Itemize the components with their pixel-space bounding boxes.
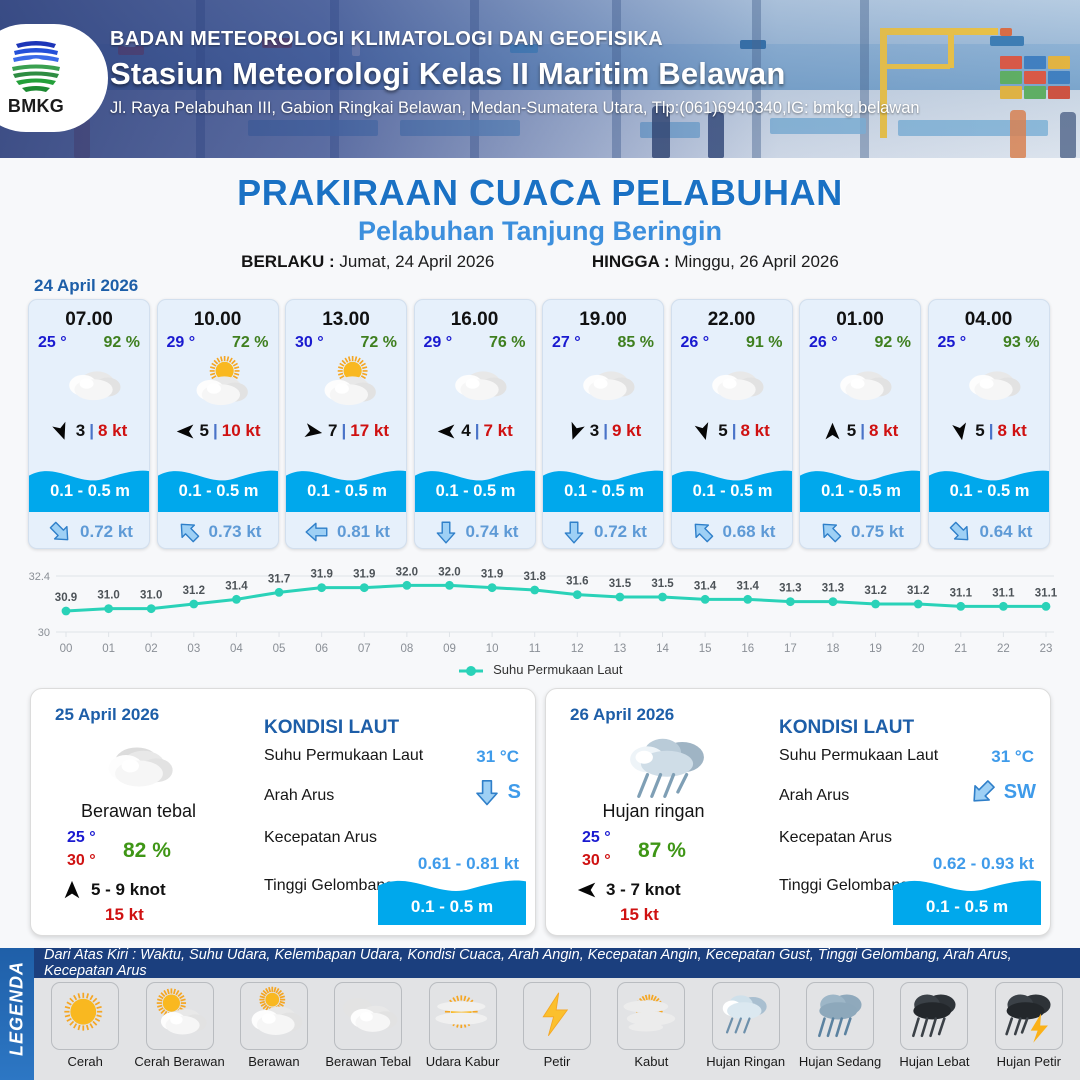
panel-right: KONDISI LAUT Suhu Permukaan Laut 31 °C A… xyxy=(246,689,537,937)
legend-item: Cerah xyxy=(38,982,132,1078)
panel-temp-max: 30 ° xyxy=(67,852,96,870)
card-gust-speed: 7 kt xyxy=(483,421,512,441)
legend-item-label: Hujan Petir xyxy=(997,1054,1061,1069)
card-temperature: 25 ° xyxy=(38,334,67,352)
daily-forecast-panel: 26 April 2026 Hujan ringan 25 ° 30 ° 87 … xyxy=(545,688,1051,936)
panel-current-dir-value-row: SW xyxy=(968,777,1036,807)
svg-text:02: 02 xyxy=(145,643,158,655)
wind-direction-arrow-icon xyxy=(822,421,843,442)
panel-current-speed-label: Kecepatan Arus xyxy=(779,829,892,847)
svg-text:03: 03 xyxy=(187,643,200,655)
svg-text:30: 30 xyxy=(38,627,50,639)
card-current-speed: 0.81 kt xyxy=(337,522,390,542)
card-weather-icon xyxy=(286,357,406,413)
panel-gust: 15 kt xyxy=(620,905,659,925)
svg-text:31.3: 31.3 xyxy=(779,583,801,595)
logo-label: BMKG xyxy=(0,96,78,117)
card-wave-height: 0.1 - 0.5 m xyxy=(158,482,279,501)
valid-until-label: HINGGA : xyxy=(592,252,670,271)
legend-icon-sun-cloud-icon xyxy=(146,982,214,1050)
card-wave-graphic: 0.1 - 0.5 m xyxy=(158,460,279,512)
svg-text:31.9: 31.9 xyxy=(353,569,375,581)
legend-item: Hujan Ringan xyxy=(699,982,793,1078)
panel-wave-label: Tinggi Gelombang xyxy=(779,877,909,895)
card-time: 16.00 xyxy=(415,309,535,331)
svg-text:15: 15 xyxy=(699,643,712,655)
card-temperature: 29 ° xyxy=(167,334,196,352)
card-wind-separator: | xyxy=(860,421,865,441)
card-wind-separator: | xyxy=(213,421,218,441)
valid-from-label: BERLAKU : xyxy=(241,252,335,271)
svg-text:31.6: 31.6 xyxy=(566,576,588,588)
svg-text:31.2: 31.2 xyxy=(864,585,886,597)
legend-icon-haze-icon xyxy=(429,982,497,1050)
legend-item-label: Hujan Lebat xyxy=(899,1054,969,1069)
legend-item-label: Hujan Sedang xyxy=(799,1054,881,1069)
legend-item: Berawan Tebal xyxy=(321,982,415,1078)
card-wind-separator: | xyxy=(732,421,737,441)
current-direction-arrow-icon xyxy=(47,519,73,545)
panel-wind-speed: 5 - 9 knot xyxy=(91,880,166,900)
card-temperature: 25 ° xyxy=(938,334,967,352)
svg-text:32.0: 32.0 xyxy=(438,566,460,578)
chart-legend-label: Suhu Permukaan Laut xyxy=(493,662,622,677)
svg-text:31.3: 31.3 xyxy=(822,583,844,595)
legend-icon-fog-icon xyxy=(617,982,685,1050)
card-weather-icon xyxy=(29,357,149,413)
card-wave-height: 0.1 - 0.5 m xyxy=(543,482,664,501)
panel-sst-label: Suhu Permukaan Laut xyxy=(779,747,938,765)
card-wave-height: 0.1 - 0.5 m xyxy=(929,482,1050,501)
svg-text:10: 10 xyxy=(486,643,499,655)
card-current-speed: 0.64 kt xyxy=(980,522,1033,542)
svg-text:01: 01 xyxy=(102,643,115,655)
svg-text:07: 07 xyxy=(358,643,371,655)
panel-weather-icon xyxy=(71,729,206,801)
card-time: 04.00 xyxy=(929,309,1049,331)
card-weather-icon xyxy=(672,357,792,413)
current-direction-arrow-icon xyxy=(947,519,973,545)
svg-text:31.1: 31.1 xyxy=(992,587,1015,599)
legend-item-label: Cerah Berawan xyxy=(134,1054,224,1069)
svg-text:31.4: 31.4 xyxy=(694,580,717,592)
wind-direction-arrow-icon xyxy=(436,421,457,442)
panel-sst-label: Suhu Permukaan Laut xyxy=(264,747,423,765)
panel-current-dir-label: Arah Arus xyxy=(779,787,849,805)
svg-text:31.0: 31.0 xyxy=(97,590,119,602)
card-wave-graphic: 0.1 - 0.5 m xyxy=(929,460,1050,512)
svg-text:31.2: 31.2 xyxy=(183,585,205,597)
card-wind-row: 5 | 8 kt xyxy=(800,416,920,446)
card-temperature: 27 ° xyxy=(552,334,581,352)
page-subtitle: Pelabuhan Tanjung Beringin xyxy=(0,216,1080,247)
svg-text:21: 21 xyxy=(954,643,967,655)
svg-text:14: 14 xyxy=(656,643,669,655)
svg-text:11: 11 xyxy=(529,643,541,655)
panel-current-arrow-icon xyxy=(968,777,998,807)
panel-current-dir-value-row: S xyxy=(472,777,521,807)
svg-text:13: 13 xyxy=(614,643,627,655)
panel-temp-min: 25 ° xyxy=(582,829,611,847)
svg-text:06: 06 xyxy=(315,643,328,655)
svg-text:04: 04 xyxy=(230,643,243,655)
card-current-speed: 0.72 kt xyxy=(594,522,647,542)
card-wind-direction: 5 xyxy=(200,421,209,441)
panel-temp-max: 30 ° xyxy=(582,852,611,870)
card-time: 01.00 xyxy=(800,309,920,331)
legend-item: Kabut xyxy=(604,982,698,1078)
svg-text:09: 09 xyxy=(443,643,456,655)
card-current-row: 0.68 kt xyxy=(672,516,793,548)
svg-text:22: 22 xyxy=(997,643,1010,655)
svg-text:30.9: 30.9 xyxy=(55,592,77,604)
panel-wind-arrow-icon xyxy=(576,879,598,901)
panel-wave-label: Tinggi Gelombang xyxy=(264,877,394,895)
card-current-row: 0.75 kt xyxy=(800,516,921,548)
legend-item-label: Petir xyxy=(544,1054,571,1069)
svg-text:00: 00 xyxy=(60,643,73,655)
svg-text:12: 12 xyxy=(571,643,584,655)
card-current-row: 0.73 kt xyxy=(158,516,279,548)
panel-wind-row: 5 - 9 knot xyxy=(61,879,166,901)
forecast-card: 22.00 26 ° 91 % 5 | 8 kt 0.1 - 0.5 m 0.6… xyxy=(671,299,793,549)
panel-condition: Berawan tebal xyxy=(31,801,246,822)
panel-current-speed-label: Kecepatan Arus xyxy=(264,829,377,847)
bmkg-logo-icon xyxy=(4,34,68,96)
svg-text:31.9: 31.9 xyxy=(481,569,503,581)
panel-left: 25 April 2026 Berawan tebal 25 ° 30 ° 82… xyxy=(31,689,246,937)
forecast-card: 16.00 29 ° 76 % 4 | 7 kt 0.1 - 0.5 m 0.7… xyxy=(414,299,536,549)
card-gust-speed: 8 kt xyxy=(98,421,127,441)
current-direction-arrow-icon xyxy=(433,519,459,545)
current-direction-arrow-icon xyxy=(690,519,716,545)
svg-text:31.2: 31.2 xyxy=(907,585,929,597)
card-weather-icon xyxy=(158,357,278,413)
forecast-card: 13.00 30 ° 72 % 7 | 17 kt 0.1 - 0.5 m 0.… xyxy=(285,299,407,549)
card-wind-direction: 5 xyxy=(847,421,856,441)
legend-item: Cerah Berawan xyxy=(132,982,226,1078)
panel-condition: Hujan ringan xyxy=(546,801,761,822)
card-weather-icon xyxy=(543,357,663,413)
card-current-speed: 0.74 kt xyxy=(466,522,519,542)
svg-text:32.0: 32.0 xyxy=(396,566,418,578)
legend-icon-cloud-thick-icon xyxy=(334,982,402,1050)
svg-text:31.4: 31.4 xyxy=(225,580,248,592)
panel-humidity: 82 % xyxy=(123,839,171,863)
legend-icon-cloud-sun-small-icon xyxy=(240,982,308,1050)
svg-text:31.8: 31.8 xyxy=(524,571,547,583)
forecast-day-label: 24 April 2026 xyxy=(34,276,138,296)
legend-item: Hujan Petir xyxy=(982,982,1076,1078)
card-wind-row: 4 | 7 kt xyxy=(415,416,535,446)
card-weather-icon xyxy=(415,357,535,413)
panel-weather-icon xyxy=(586,729,721,801)
svg-text:31.4: 31.4 xyxy=(737,580,760,592)
chart-legend: Suhu Permukaan Laut xyxy=(0,662,1080,677)
svg-text:31.0: 31.0 xyxy=(140,590,162,602)
forecast-card: 04.00 25 ° 93 % 5 | 8 kt 0.1 - 0.5 m 0.6… xyxy=(928,299,1050,549)
card-wind-direction: 3 xyxy=(76,421,85,441)
card-humidity: 92 % xyxy=(104,334,140,352)
forecast-card: 01.00 26 ° 92 % 5 | 8 kt 0.1 - 0.5 m 0.7… xyxy=(799,299,921,549)
card-current-row: 0.72 kt xyxy=(543,516,664,548)
card-current-speed: 0.72 kt xyxy=(80,522,133,542)
panel-date: 25 April 2026 xyxy=(55,705,159,725)
card-wind-direction: 4 xyxy=(461,421,470,441)
card-wind-separator: | xyxy=(341,421,346,441)
legend-icon-rain-heavy-icon xyxy=(900,982,968,1050)
legend-item-label: Berawan xyxy=(248,1054,299,1069)
card-wind-direction: 5 xyxy=(718,421,727,441)
card-wind-row: 7 | 17 kt xyxy=(286,416,406,446)
legend-item-label: Cerah xyxy=(67,1054,102,1069)
legend-icon-rain-thunder-icon xyxy=(995,982,1063,1050)
card-gust-speed: 8 kt xyxy=(997,421,1026,441)
panel-date: 26 April 2026 xyxy=(570,705,674,725)
legend-side-title: LEGENDA xyxy=(0,948,34,1080)
card-wave-graphic: 0.1 - 0.5 m xyxy=(29,460,150,512)
card-wave-graphic: 0.1 - 0.5 m xyxy=(672,460,793,512)
svg-text:17: 17 xyxy=(784,643,797,655)
legend-icon-lightning-icon xyxy=(523,982,591,1050)
current-direction-arrow-icon xyxy=(176,519,202,545)
card-humidity: 93 % xyxy=(1003,334,1039,352)
wind-direction-arrow-icon xyxy=(303,421,324,442)
card-humidity: 76 % xyxy=(489,334,525,352)
card-wind-separator: | xyxy=(89,421,94,441)
panel-current-dir-value: SW xyxy=(1004,781,1036,804)
card-current-speed: 0.73 kt xyxy=(209,522,262,542)
current-direction-arrow-icon xyxy=(561,519,587,545)
valid-from-value: Jumat, 24 April 2026 xyxy=(339,252,494,271)
station-address: Jl. Raya Pelabuhan III, Gabion Ringkai B… xyxy=(110,99,1050,118)
card-wind-separator: | xyxy=(603,421,608,441)
panel-humidity: 87 % xyxy=(638,839,686,863)
current-direction-arrow-icon xyxy=(818,519,844,545)
legend-icon-rain-medium-icon xyxy=(806,982,874,1050)
panel-sea-title: KONDISI LAUT xyxy=(779,717,914,739)
card-wind-separator: | xyxy=(475,421,480,441)
card-wind-row: 3 | 8 kt xyxy=(29,416,149,446)
legend-icon-rain-light-icon xyxy=(712,982,780,1050)
panel-gust: 15 kt xyxy=(105,905,144,925)
card-wave-height: 0.1 - 0.5 m xyxy=(672,482,793,501)
forecast-card: 07.00 25 ° 92 % 3 | 8 kt 0.1 - 0.5 m 0.7… xyxy=(28,299,150,549)
panel-sea-title: KONDISI LAUT xyxy=(264,717,399,739)
card-wind-direction: 3 xyxy=(590,421,599,441)
panel-wind-row: 3 - 7 knot xyxy=(576,879,681,901)
card-humidity: 91 % xyxy=(746,334,782,352)
card-wave-graphic: 0.1 - 0.5 m xyxy=(543,460,664,512)
card-time: 10.00 xyxy=(158,309,278,331)
svg-text:31.7: 31.7 xyxy=(268,573,290,585)
svg-text:18: 18 xyxy=(827,643,840,655)
card-temperature: 26 ° xyxy=(809,334,838,352)
card-gust-speed: 9 kt xyxy=(612,421,641,441)
legend-item-label: Kabut xyxy=(634,1054,668,1069)
svg-text:23: 23 xyxy=(1040,643,1053,655)
panel-current-arrow-icon xyxy=(472,777,502,807)
legend-item-label: Hujan Ringan xyxy=(706,1054,785,1069)
card-current-row: 0.64 kt xyxy=(929,516,1050,548)
panel-left: 26 April 2026 Hujan ringan 25 ° 30 ° 87 … xyxy=(546,689,761,937)
sst-chart: 32.43030.90031.00131.00231.20331.40431.7… xyxy=(18,558,1062,678)
card-wind-direction: 7 xyxy=(328,421,337,441)
card-weather-icon xyxy=(929,357,1049,413)
card-wave-graphic: 0.1 - 0.5 m xyxy=(286,460,407,512)
card-gust-speed: 17 kt xyxy=(350,421,389,441)
station-name: Stasiun Meteorologi Kelas II Maritim Bel… xyxy=(110,56,1050,92)
svg-text:16: 16 xyxy=(741,643,754,655)
panel-right: KONDISI LAUT Suhu Permukaan Laut 31 °C A… xyxy=(761,689,1052,937)
legend-side-label: LEGENDA xyxy=(7,960,28,1058)
legend-note: Dari Atas Kiri : Waktu, Suhu Udara, Kele… xyxy=(34,948,1080,978)
card-wind-row: 5 | 10 kt xyxy=(158,416,278,446)
card-gust-speed: 8 kt xyxy=(740,421,769,441)
svg-text:31.5: 31.5 xyxy=(609,578,632,590)
card-humidity: 92 % xyxy=(875,334,911,352)
hourly-forecast-strip: 07.00 25 ° 92 % 3 | 8 kt 0.1 - 0.5 m 0.7… xyxy=(28,299,1054,549)
card-wind-direction: 5 xyxy=(975,421,984,441)
svg-text:32.4: 32.4 xyxy=(29,571,50,583)
card-wave-height: 0.1 - 0.5 m xyxy=(286,482,407,501)
legend-item-label: Udara Kabur xyxy=(426,1054,500,1069)
legend-item: Petir xyxy=(510,982,604,1078)
card-weather-icon xyxy=(800,357,920,413)
wind-direction-arrow-icon xyxy=(950,421,971,442)
card-current-row: 0.81 kt xyxy=(286,516,407,548)
page-title: PRAKIRAAN CUACA PELABUHAN xyxy=(0,172,1080,214)
card-current-row: 0.74 kt xyxy=(415,516,536,548)
wind-direction-arrow-icon xyxy=(693,421,714,442)
svg-text:31.5: 31.5 xyxy=(651,578,674,590)
panel-wind-speed: 3 - 7 knot xyxy=(606,880,681,900)
card-wind-row: 3 | 9 kt xyxy=(543,416,663,446)
card-wave-height: 0.1 - 0.5 m xyxy=(415,482,536,501)
card-current-speed: 0.75 kt xyxy=(851,522,904,542)
svg-text:31.9: 31.9 xyxy=(310,569,332,581)
current-direction-arrow-icon xyxy=(304,519,330,545)
svg-text:31.1: 31.1 xyxy=(950,587,973,599)
card-wind-separator: | xyxy=(989,421,994,441)
legend-item: Hujan Sedang xyxy=(793,982,887,1078)
panel-sst-value: 31 °C xyxy=(476,747,519,767)
card-gust-speed: 10 kt xyxy=(222,421,261,441)
panel-wind-arrow-icon xyxy=(61,879,83,901)
valid-until-value: Minggu, 26 April 2026 xyxy=(674,252,838,271)
forecast-card: 19.00 27 ° 85 % 3 | 9 kt 0.1 - 0.5 m 0.7… xyxy=(542,299,664,549)
card-wave-graphic: 0.1 - 0.5 m xyxy=(800,460,921,512)
card-wind-row: 5 | 8 kt xyxy=(672,416,792,446)
svg-text:19: 19 xyxy=(869,643,882,655)
card-temperature: 29 ° xyxy=(424,334,453,352)
card-time: 19.00 xyxy=(543,309,663,331)
card-wave-height: 0.1 - 0.5 m xyxy=(800,482,921,501)
card-current-row: 0.72 kt xyxy=(29,516,150,548)
agency-name: BADAN METEOROLOGI KLIMATOLOGI DAN GEOFIS… xyxy=(110,28,1050,51)
card-wave-height: 0.1 - 0.5 m xyxy=(29,482,150,501)
legend-item-label: Berawan Tebal xyxy=(325,1054,411,1069)
card-temperature: 26 ° xyxy=(681,334,710,352)
legend-bar: LEGENDA Dari Atas Kiri : Waktu, Suhu Uda… xyxy=(0,948,1080,1080)
card-time: 07.00 xyxy=(29,309,149,331)
panel-temp-min: 25 ° xyxy=(67,829,96,847)
wind-direction-arrow-icon xyxy=(175,421,196,442)
svg-text:31.1: 31.1 xyxy=(1035,587,1058,599)
card-humidity: 85 % xyxy=(618,334,654,352)
legend-item: Berawan xyxy=(227,982,321,1078)
panel-current-dir-label: Arah Arus xyxy=(264,787,334,805)
card-humidity: 72 % xyxy=(232,334,268,352)
panel-wave-value: 0.1 - 0.5 m xyxy=(893,897,1041,917)
panel-sst-value: 31 °C xyxy=(991,747,1034,767)
card-wave-graphic: 0.1 - 0.5 m xyxy=(415,460,536,512)
wind-direction-arrow-icon xyxy=(51,421,72,442)
legend-icon-list: Cerah Cerah Berawan Berawan xyxy=(38,982,1076,1078)
legend-item: Hujan Lebat xyxy=(887,982,981,1078)
daily-forecast-panel: 25 April 2026 Berawan tebal 25 ° 30 ° 82… xyxy=(30,688,536,936)
wind-direction-arrow-icon xyxy=(565,421,586,442)
page-header: BMKG BADAN METEOROLOGI KLIMATOLOGI DAN G… xyxy=(0,0,1080,158)
svg-text:08: 08 xyxy=(400,643,413,655)
legend-item: Udara Kabur xyxy=(415,982,509,1078)
svg-text:20: 20 xyxy=(912,643,925,655)
panel-current-dir-value: S xyxy=(508,781,521,804)
svg-text:05: 05 xyxy=(273,643,286,655)
card-current-speed: 0.68 kt xyxy=(723,522,776,542)
chart-legend-marker xyxy=(458,665,484,677)
card-time: 22.00 xyxy=(672,309,792,331)
card-time: 13.00 xyxy=(286,309,406,331)
panel-wave-value: 0.1 - 0.5 m xyxy=(378,897,526,917)
bmkg-logo-plate: BMKG xyxy=(0,24,108,132)
legend-icon-sun-icon xyxy=(51,982,119,1050)
card-temperature: 30 ° xyxy=(295,334,324,352)
card-gust-speed: 8 kt xyxy=(869,421,898,441)
validity-row: BERLAKU : Jumat, 24 April 2026 HINGGA : … xyxy=(0,252,1080,272)
forecast-card: 10.00 29 ° 72 % 5 | 10 kt 0.1 - 0.5 m 0.… xyxy=(157,299,279,549)
card-humidity: 72 % xyxy=(361,334,397,352)
card-wind-row: 5 | 8 kt xyxy=(929,416,1049,446)
